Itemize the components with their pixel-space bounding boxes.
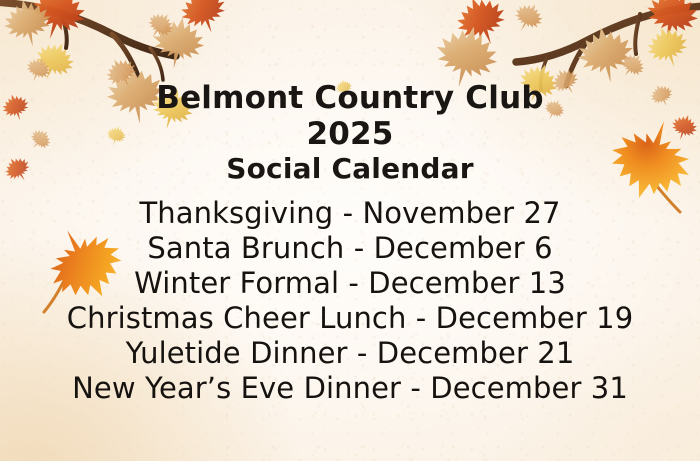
page-subtitle: Social Calendar [0,154,700,183]
autumn-social-calendar-poster: Belmont Country Club 2025 Social Calenda… [0,0,700,461]
list-item: Thanksgiving - November 27 [0,196,700,231]
list-item: Winter Formal - December 13 [0,266,700,301]
page-year: 2025 [0,118,700,150]
list-item: New Year’s Eve Dinner - December 31 [0,371,700,406]
text-layer: Belmont Country Club 2025 Social Calenda… [0,0,700,461]
event-list: Thanksgiving - November 27 Santa Brunch … [0,196,700,406]
list-item: Yuletide Dinner - December 21 [0,336,700,371]
poster-header: Belmont Country Club 2025 Social Calenda… [0,82,700,184]
list-item: Santa Brunch - December 6 [0,231,700,266]
page-title: Belmont Country Club [0,82,700,114]
list-item: Christmas Cheer Lunch - December 19 [0,301,700,336]
